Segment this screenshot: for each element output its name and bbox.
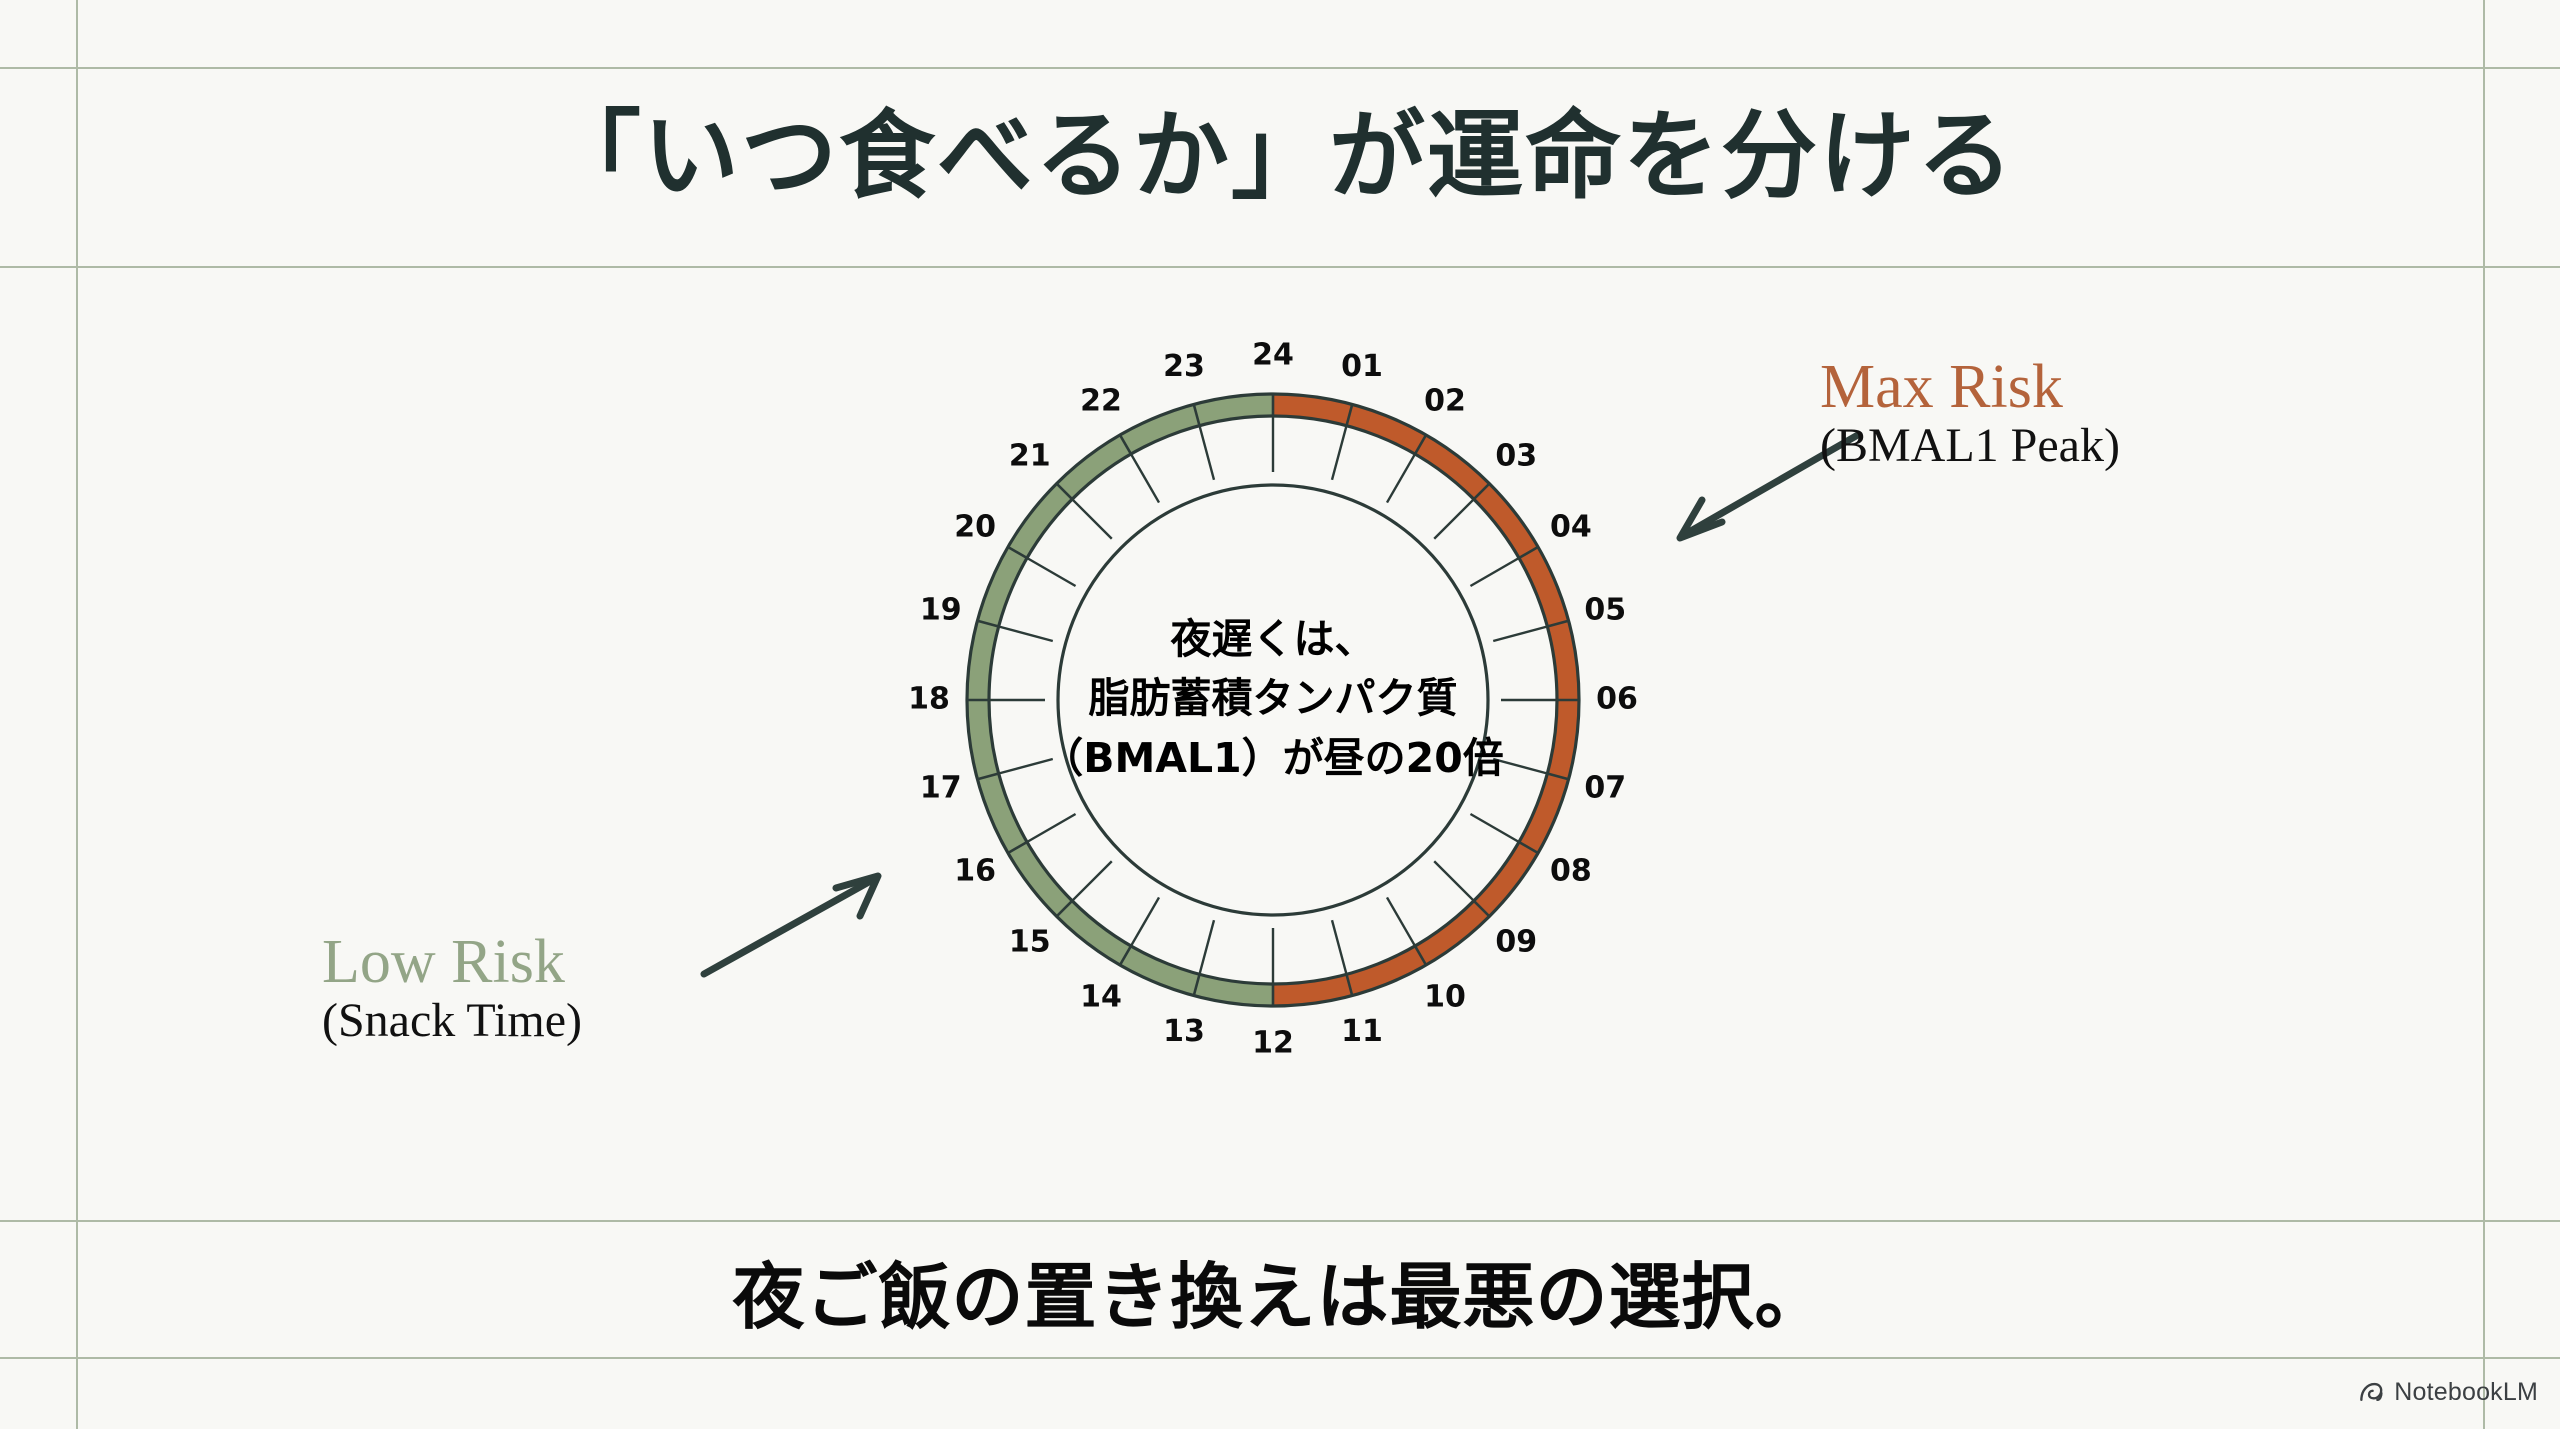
dial-hour-label-12: 12 [1252, 1026, 1294, 1061]
dial-hour-label-11: 11 [1341, 1014, 1383, 1049]
dial-hour-label-08: 08 [1550, 854, 1592, 889]
dial-hour-label-14: 14 [1080, 979, 1122, 1014]
dial-hour-label-10: 10 [1424, 979, 1466, 1014]
low-risk-annotation: Low Risk (Snack Time) [322, 930, 582, 1048]
dial-hour-spoke [1332, 426, 1346, 480]
dial-hour-label-19: 19 [920, 592, 962, 627]
slide-caption: 夜ご飯の置き換えは最悪の選択。 [0, 1238, 2560, 1343]
max-risk-annotation: Max Risk (BMAL1 Peak) [1820, 355, 2120, 473]
max-risk-subtitle: (BMAL1 Peak) [1820, 419, 2120, 473]
dial-hour-spoke [1470, 814, 1519, 842]
dial-hour-spoke [1131, 454, 1159, 503]
dial-hour-label-17: 17 [920, 771, 962, 806]
dial-hour-label-01: 01 [1341, 349, 1383, 384]
slide-canvas: 「いつ食べるか」が運命を分ける 010203040506070809101112… [0, 0, 2560, 1429]
dial-hour-label-16: 16 [954, 854, 996, 889]
dial-hour-spoke [1072, 499, 1112, 539]
dial-hour-label-23: 23 [1163, 349, 1205, 384]
center-note-line-3: （BMAL1）が昼の20倍 [973, 729, 1573, 788]
max-risk-title: Max Risk [1820, 355, 2120, 419]
dial-hour-label-13: 13 [1163, 1014, 1205, 1049]
dial-hour-label-21: 21 [1009, 438, 1051, 473]
grid-line-horizontal [0, 1220, 2560, 1222]
notebooklm-watermark: NotebookLM [2358, 1378, 2538, 1407]
dial-hour-spoke [1387, 897, 1415, 946]
dial-hour-spoke [1072, 861, 1112, 901]
dial-hour-label-15: 15 [1009, 925, 1051, 960]
notebooklm-label: NotebookLM [2394, 1378, 2538, 1407]
low-risk-arrow-icon [700, 870, 890, 980]
dial-hour-spoke [1027, 814, 1076, 842]
low-risk-title: Low Risk [322, 930, 582, 994]
dial-hour-spoke [1434, 861, 1474, 901]
low-risk-subtitle: (Snack Time) [322, 994, 582, 1048]
notebooklm-icon [2358, 1379, 2385, 1406]
dial-hour-spoke [1332, 920, 1346, 974]
dial-center-note: 夜遅くは、 脂肪蓄積タンパク質 （BMAL1）が昼の20倍 [973, 610, 1573, 788]
dial-hour-spoke [1434, 499, 1474, 539]
dial-hour-label-04: 04 [1550, 510, 1592, 545]
dial-hour-label-24: 24 [1252, 338, 1294, 373]
center-note-line-2: 脂肪蓄積タンパク質 [973, 669, 1573, 728]
grid-line-horizontal [0, 67, 2560, 69]
grid-line-horizontal [0, 1357, 2560, 1359]
dial-hour-spoke [1470, 558, 1519, 586]
dial-hour-label-02: 02 [1424, 384, 1466, 419]
dial-hour-label-06: 06 [1596, 682, 1638, 717]
dial-hour-label-22: 22 [1080, 384, 1122, 419]
dial-hour-spoke [1131, 897, 1159, 946]
dial-hour-spoke [1200, 426, 1214, 480]
dial-hour-label-20: 20 [954, 510, 996, 545]
dial-hour-label-03: 03 [1495, 438, 1537, 473]
dial-hour-spoke [1027, 558, 1076, 586]
page-title: 「いつ食べるか」が運命を分ける [0, 78, 2560, 217]
dial-hour-label-07: 07 [1584, 771, 1626, 806]
dial-hour-label-09: 09 [1495, 925, 1537, 960]
dial-hour-label-05: 05 [1584, 592, 1626, 627]
dial-hour-spoke [1387, 454, 1415, 503]
dial-hour-spoke [1200, 920, 1214, 974]
grid-line-horizontal [0, 266, 2560, 268]
dial-hour-label-18: 18 [908, 682, 950, 717]
center-note-line-1: 夜遅くは、 [973, 610, 1573, 669]
